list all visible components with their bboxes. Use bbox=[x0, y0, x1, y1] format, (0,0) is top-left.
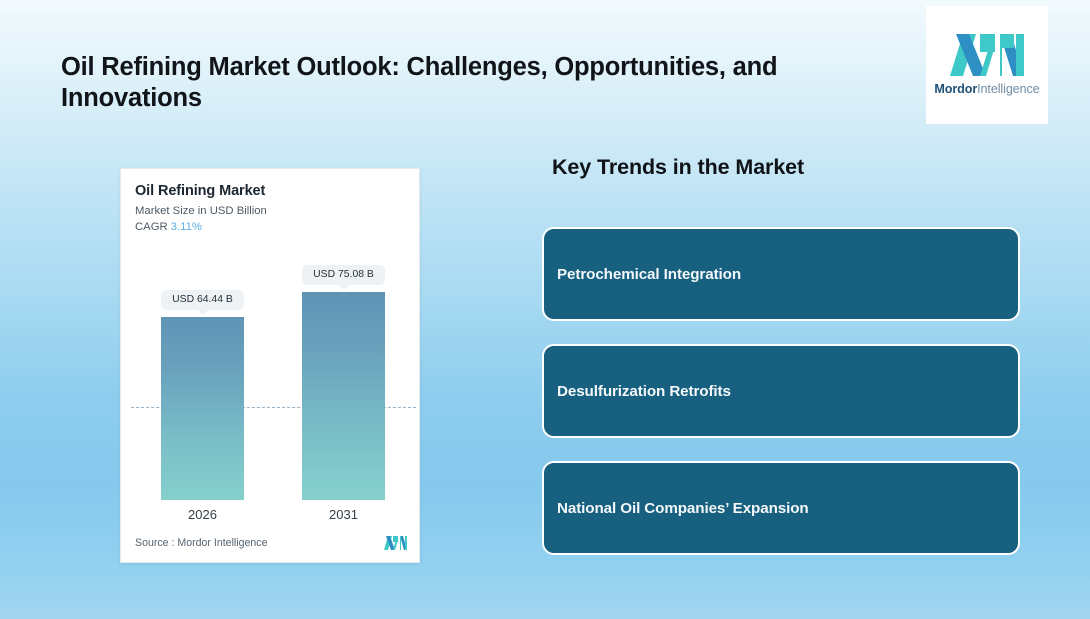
trend-card-label: National Oil Companies’ Expansion bbox=[557, 500, 809, 517]
market-size-chart-card: Oil Refining Market Market Size in USD B… bbox=[120, 168, 420, 563]
trend-card-petrochemical-integration[interactable]: Petrochemical Integration bbox=[542, 227, 1020, 321]
trends-heading: Key Trends in the Market bbox=[552, 155, 804, 180]
chart-subtitle: Market Size in USD Billion bbox=[135, 205, 419, 217]
source-name: Mordor Intelligence bbox=[177, 537, 267, 549]
trend-card-label: Petrochemical Integration bbox=[557, 266, 741, 283]
source-label: Source : bbox=[135, 537, 174, 549]
cagr-value: 3.11% bbox=[171, 221, 202, 233]
mordor-footer-logo-icon bbox=[384, 536, 407, 550]
value-badge-2031: USD 75.08 B bbox=[302, 265, 385, 285]
brand-logo-card: MordorIntelligence bbox=[926, 6, 1048, 124]
chart-title: Oil Refining Market bbox=[135, 183, 419, 199]
value-badge-2026: USD 64.44 B bbox=[161, 290, 244, 310]
x-tick-2026: 2026 bbox=[161, 507, 244, 522]
chart-plot-area: USD 64.44 B USD 75.08 B bbox=[121, 255, 421, 500]
page-title: Oil Refining Market Outlook: Challenges,… bbox=[61, 52, 801, 113]
chart-header: Oil Refining Market Market Size in USD B… bbox=[121, 169, 419, 233]
mordor-logo-icon bbox=[950, 34, 1024, 76]
brand-logo-text: MordorIntelligence bbox=[934, 82, 1039, 96]
bar-2031 bbox=[302, 292, 385, 500]
brand-name-light: Intelligence bbox=[977, 82, 1040, 96]
chart-cagr: CAGR 3.11% bbox=[135, 221, 419, 233]
trend-card-label: Desulfurization Retrofits bbox=[557, 383, 731, 400]
bar-2026 bbox=[161, 317, 244, 500]
trend-card-national-oil-companies-expansion[interactable]: National Oil Companies’ Expansion bbox=[542, 461, 1020, 555]
x-tick-2031: 2031 bbox=[302, 507, 385, 522]
trend-card-desulfurization-retrofits[interactable]: Desulfurization Retrofits bbox=[542, 344, 1020, 438]
brand-name-bold: Mordor bbox=[934, 82, 977, 96]
chart-source: Source : Mordor Intelligence bbox=[135, 537, 268, 549]
chart-footer: Source : Mordor Intelligence bbox=[121, 524, 421, 562]
cagr-label: CAGR bbox=[135, 221, 168, 233]
